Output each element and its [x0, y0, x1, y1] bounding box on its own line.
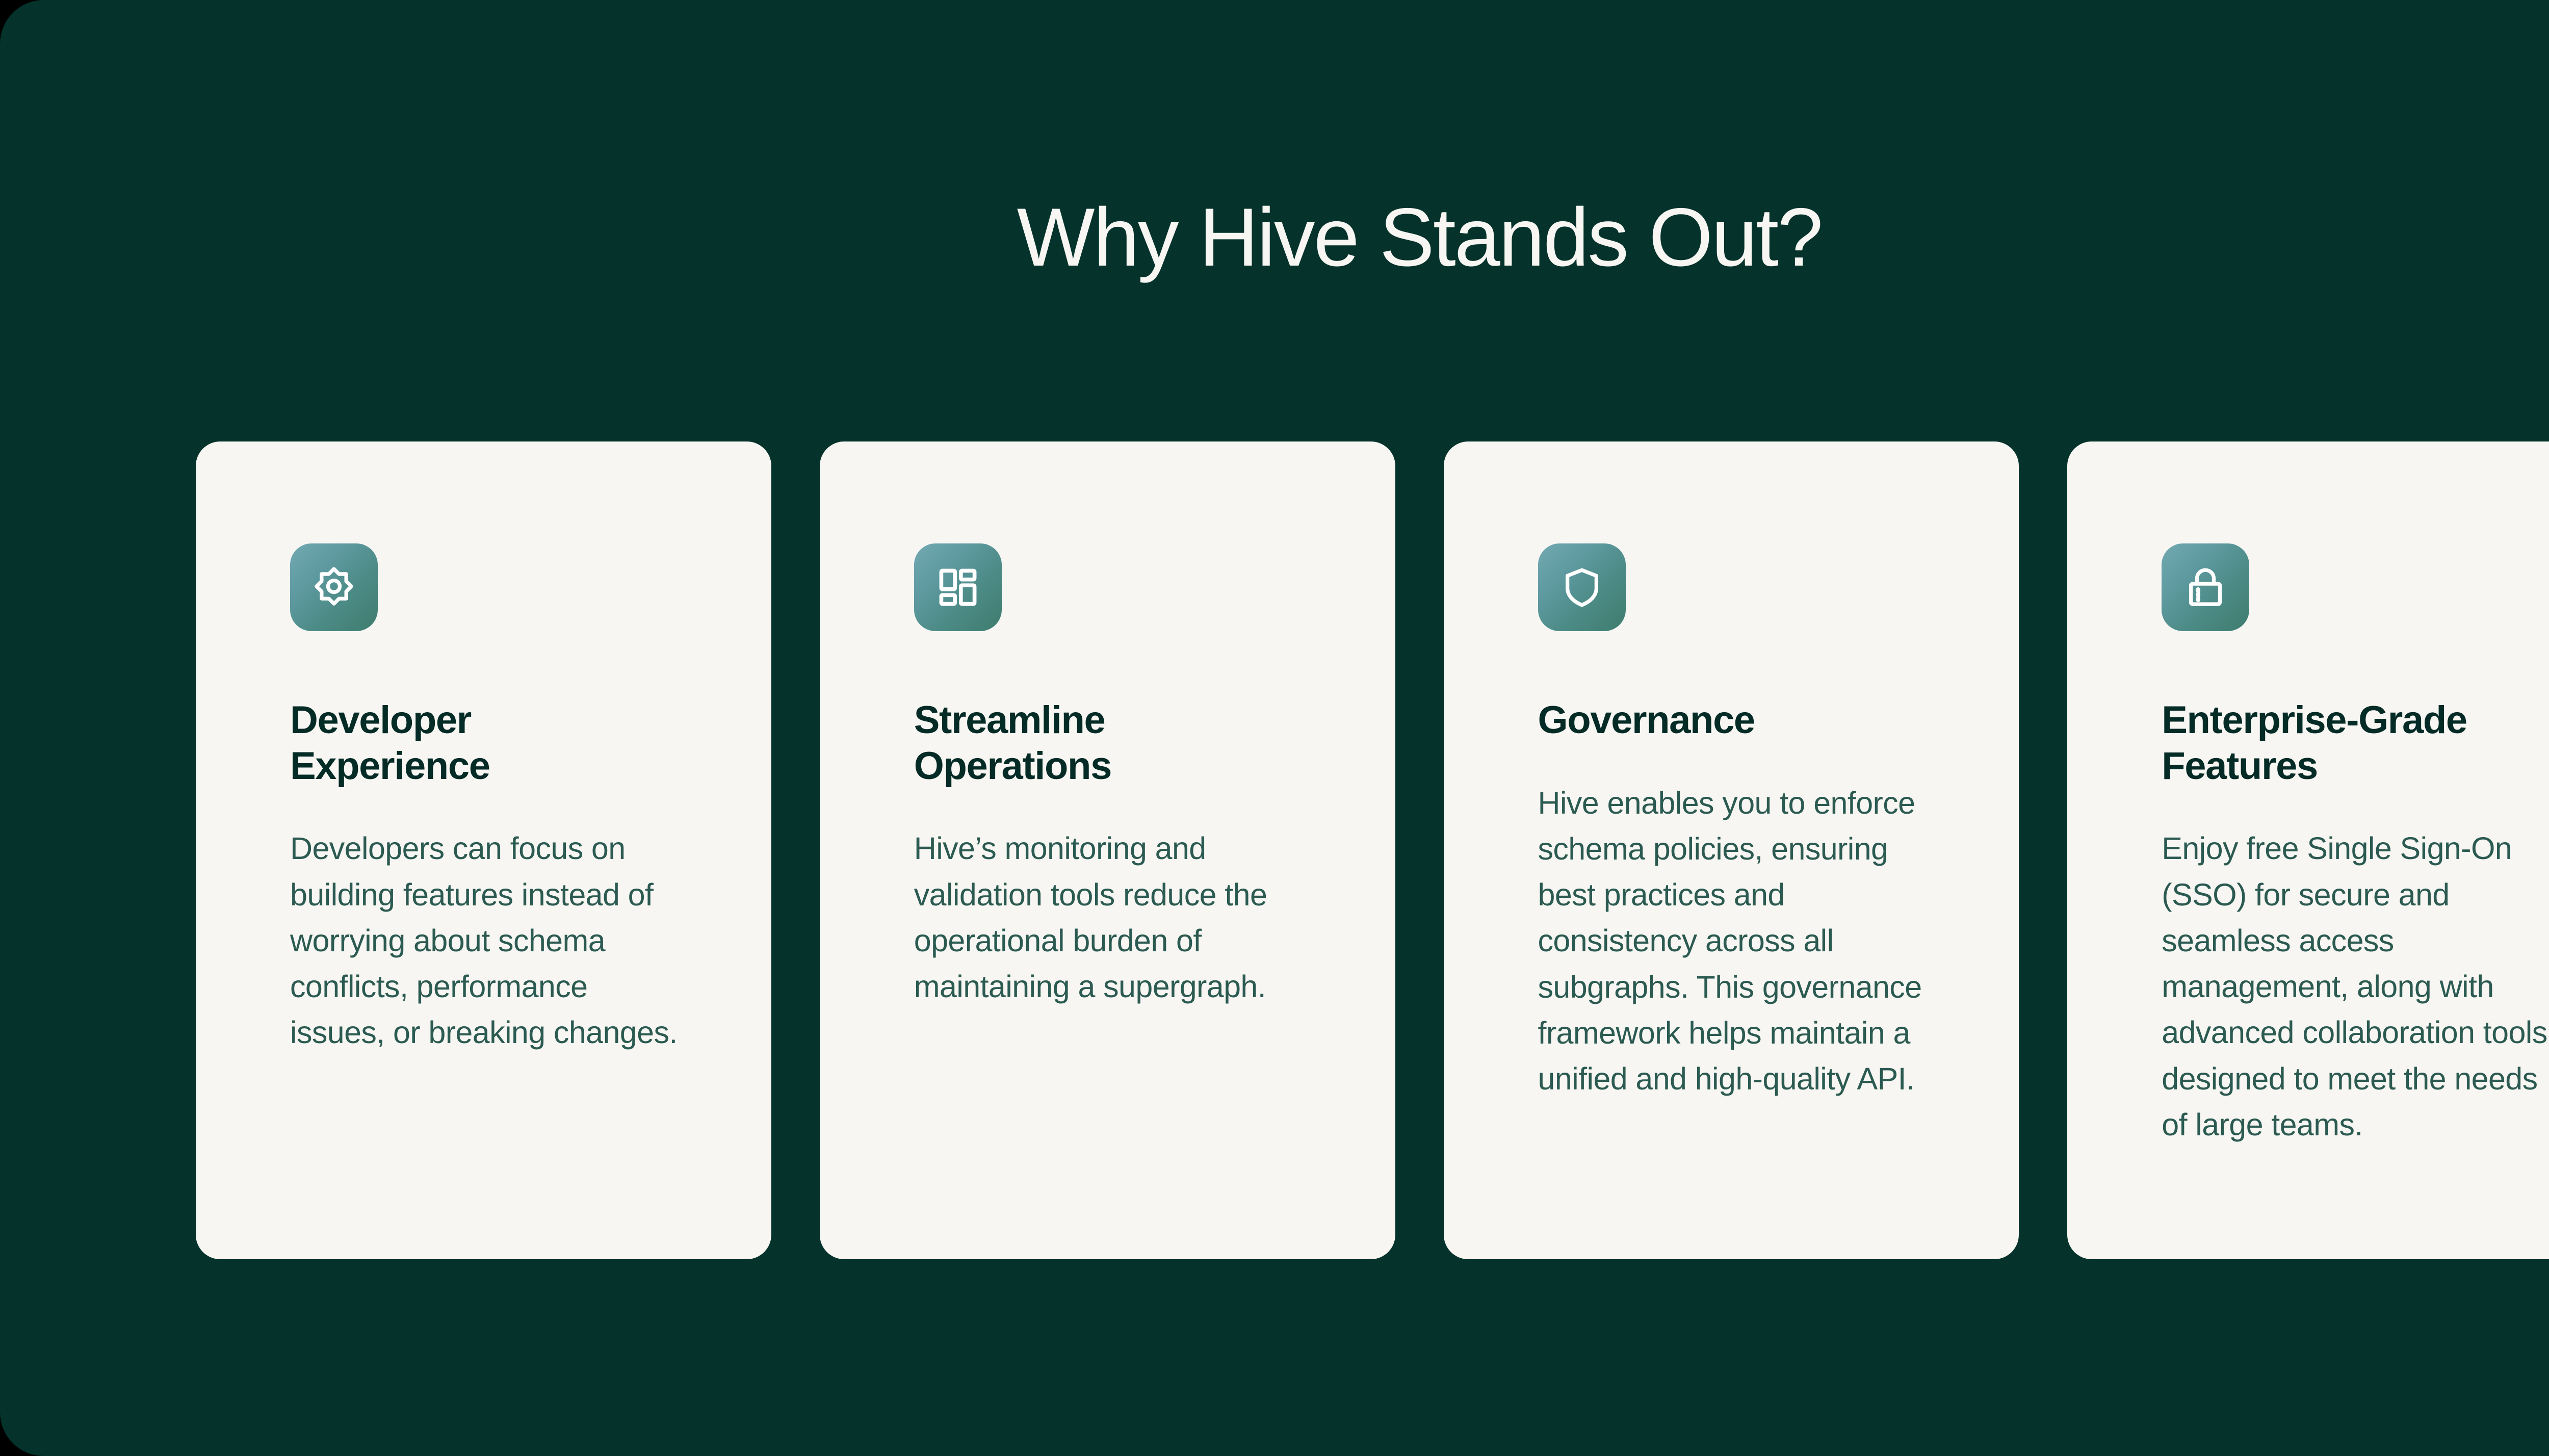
card-title: Streamline Operations [914, 697, 1179, 789]
gear-settings-icon [290, 543, 378, 631]
card-title: Governance [1538, 697, 1755, 743]
card-body: Developers can focus on building feature… [290, 825, 690, 1055]
card-title: Developer Experience [290, 697, 555, 789]
feature-card-grid: Developer Experience Developers can focu… [196, 441, 2549, 1259]
page-title: Why Hive Stands Out? [0, 196, 2549, 279]
dashboard-layout-icon [914, 543, 1002, 631]
card-body: Enjoy free Single Sign-On (SSO) for secu… [2162, 825, 2549, 1148]
feature-card: Enterprise-Grade Features Enjoy free Sin… [2067, 441, 2549, 1259]
card-body: Hive enables you to enforce schema polic… [1538, 780, 1926, 1102]
page-root: Why Hive Stands Out? Developer Experienc… [0, 0, 2549, 1456]
feature-card: Streamline Operations Hive’s monitoring … [820, 441, 1395, 1259]
feature-card: Governance Hive enables you to enforce s… [1444, 441, 2019, 1259]
lock-icon [2162, 543, 2249, 631]
feature-card: Developer Experience Developers can focu… [196, 441, 771, 1259]
shield-icon [1538, 543, 1626, 631]
card-title: Enterprise-Grade Features [2162, 697, 2549, 789]
card-body: Hive’s monitoring and validation tools r… [914, 825, 1302, 1009]
